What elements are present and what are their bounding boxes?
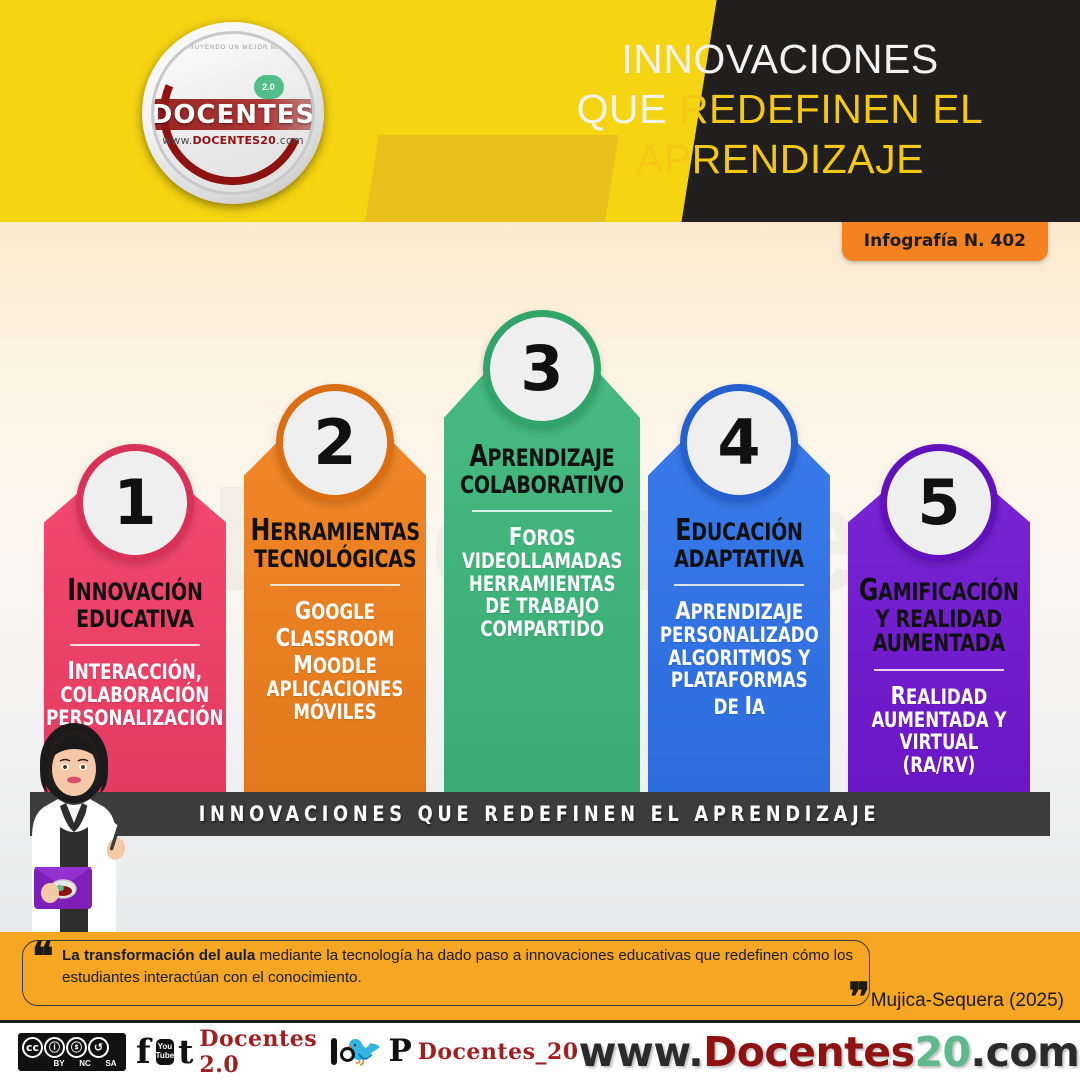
facebook-icon[interactable]: f <box>136 1035 151 1069</box>
column-5[interactable]: 5GAMIFICACIÓN Y REALIDAD AUMENTADAREALID… <box>848 444 1030 800</box>
site-com: .com <box>971 1028 1080 1076</box>
social-handle-left: Docentes 2.0 <box>199 1026 317 1078</box>
column-number-badge: 3 <box>454 310 630 428</box>
column-title: INNOVACIÓN EDUCATIVA <box>64 576 207 631</box>
quote-open-mark-icon: ❝ <box>32 937 54 977</box>
column-title: HERRAMIENTAS TECNOLÓGICAS <box>250 516 419 571</box>
infographic-number-badge[interactable]: Infografía N. 402 <box>842 222 1048 261</box>
column-subtitle: FOROS VIDEOLLAMADAS HERRAMIENTAS DE TRAB… <box>462 523 622 641</box>
logo-micro-text: CONSTRUYENDO UN MEJOR MAÑANA <box>154 45 312 51</box>
cc-by-icon: ⓘ <box>44 1037 65 1058</box>
teacher-illustration <box>10 717 138 932</box>
page-title: INNOVACIONES QUE REDEFINEN EL APRENDIZAJ… <box>520 34 1040 184</box>
column-number-badge: 2 <box>254 384 416 502</box>
quote-section: ❝ La transformación del aula mediante la… <box>0 932 1080 1020</box>
column-title: GAMIFICACIÓN Y REALIDAD AUMENTADA <box>859 576 1019 656</box>
logo-url-suffix: .com <box>276 134 304 147</box>
quote-author: Mujica-Sequera (2025) <box>871 990 1064 1012</box>
column-title: APRENDIZAJE COLABORATIVO <box>460 442 624 497</box>
column-3[interactable]: 3APRENDIZAJE COLABORATIVOFOROS VIDEOLLAM… <box>444 310 640 800</box>
cc-nc-label: NC <box>74 1059 96 1068</box>
column-divider <box>674 584 804 586</box>
title-line-1: INNOVACIONES <box>520 34 1040 84</box>
infographic-page: CONSTRUYENDO UN MEJOR MAÑANA DOCENTES 2.… <box>0 0 1080 1080</box>
header: CONSTRUYENDO UN MEJOR MAÑANA DOCENTES 2.… <box>0 0 1080 222</box>
logo-wordmark: DOCENTES <box>154 99 312 131</box>
cc-icon: cc <box>22 1037 43 1058</box>
column-divider <box>472 510 613 512</box>
youtube-line-2: Tube <box>156 1052 175 1060</box>
column-2[interactable]: 2HERRAMIENTAS TECNOLÓGICASGOOGLE CLASSRO… <box>244 384 426 800</box>
column-divider <box>874 669 1004 671</box>
quote-close-mark-icon: ❞ <box>848 978 870 1018</box>
column-subtitle: GOOGLE CLASSROOM MOODLE APLICACIONES MÓV… <box>264 597 407 723</box>
title-line-2: QUE REDEFINEN EL <box>520 84 1040 134</box>
creative-commons-badge[interactable]: cc ⓘ ⓢ ↺ BY NC SA <box>18 1033 126 1071</box>
column-number: 2 <box>283 391 387 495</box>
instagram-icon[interactable] <box>331 1038 337 1065</box>
column-number: 4 <box>687 391 791 495</box>
logo-speech-bubble-icon: 2.0 <box>254 75 284 99</box>
column-divider <box>270 584 400 586</box>
content-stage: www.Docentes20.com Docentes 1INNOVACIÓN … <box>0 222 1080 932</box>
cc-by-label: BY <box>48 1059 70 1068</box>
quote-bold-part: La transformación del aula <box>62 947 255 964</box>
column-4[interactable]: 4EDUCACIÓN ADAPTATIVAAPRENDIZAJE PERSONA… <box>648 384 830 800</box>
column-title: EDUCACIÓN ADAPTATIVA <box>668 516 811 571</box>
tumblr-icon[interactable]: t <box>178 1035 193 1068</box>
number-circle-outer: 2 <box>276 384 394 502</box>
column-number: 5 <box>887 451 991 555</box>
cc-label-row: BY NC SA <box>22 1059 122 1068</box>
cc-sa-label: SA <box>100 1059 122 1068</box>
title-line-3: APRENDIZAJE <box>520 134 1040 184</box>
cc-nc-icon: ⓢ <box>66 1037 87 1058</box>
column-divider <box>70 644 200 646</box>
number-circle-outer: 5 <box>880 444 998 562</box>
number-circle-outer: 1 <box>76 444 194 562</box>
column-subtitle: APRENDIZAJE PERSONALIZADO ALGORITMOS Y P… <box>660 597 819 719</box>
title-line-2-white: QUE <box>577 86 679 132</box>
column-number: 1 <box>83 451 187 555</box>
site-brand: Docentes <box>703 1028 914 1076</box>
pinterest-icon[interactable]: P <box>388 1036 411 1067</box>
title-line-2-yellow: REDEFINEN EL <box>679 86 983 132</box>
social-handle-right: Docentes_20 <box>418 1039 579 1065</box>
logo-url-prefix: www. <box>162 134 192 147</box>
logo-url-brand: DOCENTES20 <box>192 134 276 147</box>
column-subtitle: REALIDAD AUMENTADA Y VIRTUAL (RA/RV) <box>868 682 1011 777</box>
quote-text: La transformación del aula mediante la t… <box>62 945 862 989</box>
youtube-icon[interactable]: You Tube <box>156 1039 175 1065</box>
cc-rows: cc ⓘ ⓢ ↺ BY NC SA <box>22 1035 122 1068</box>
website-url[interactable]: www.Docentes20.com <box>579 1028 1080 1076</box>
column-number-badge: 5 <box>858 444 1020 562</box>
band-text: INNOVACIONES QUE REDEFINEN EL APRENDIZAJ… <box>199 802 881 826</box>
number-circle-outer: 4 <box>680 384 798 502</box>
footer: cc ⓘ ⓢ ↺ BY NC SA f You Tube t Docentes … <box>0 1020 1080 1080</box>
logo-url: www.DOCENTES20.com <box>154 134 312 147</box>
brand-logo[interactable]: CONSTRUYENDO UN MEJOR MAÑANA DOCENTES 2.… <box>142 22 324 204</box>
cc-icon-row: cc ⓘ ⓢ ↺ <box>22 1035 122 1059</box>
site-20: 20 <box>914 1028 970 1076</box>
logo-ring: CONSTRUYENDO UN MEJOR MAÑANA DOCENTES 2.… <box>151 31 315 195</box>
cc-sa-icon: ↺ <box>88 1037 109 1058</box>
column-number: 3 <box>490 317 594 421</box>
column-number-badge: 1 <box>54 444 216 562</box>
number-circle-outer: 3 <box>483 310 601 428</box>
cc-spacer <box>22 1059 44 1068</box>
site-www: www. <box>579 1028 704 1076</box>
column-number-badge: 4 <box>658 384 820 502</box>
bottom-band: INNOVACIONES QUE REDEFINEN EL APRENDIZAJ… <box>30 792 1050 836</box>
